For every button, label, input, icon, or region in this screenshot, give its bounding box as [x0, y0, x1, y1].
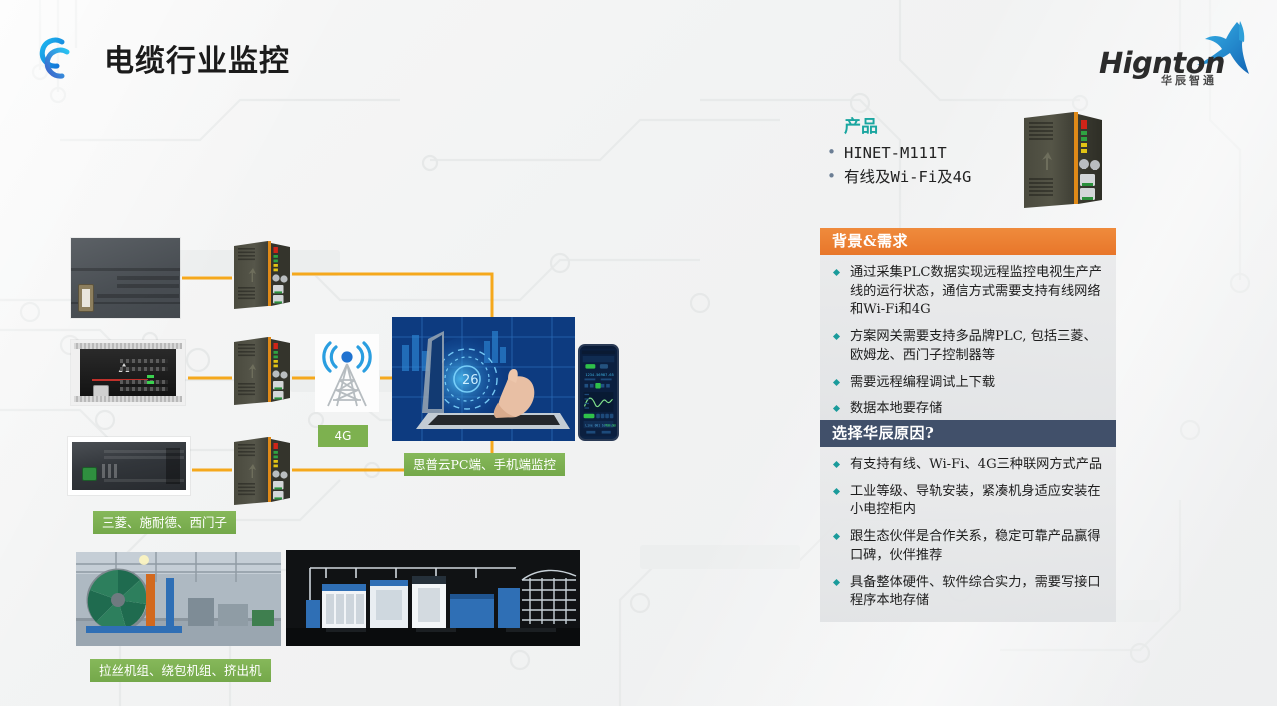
badge-4g: 4G	[318, 425, 368, 447]
list-item: 有支持有线、Wi-Fi、4G三种联网方式产品	[830, 456, 1104, 475]
schneider-plc	[68, 437, 190, 495]
ethernet-port-icon	[82, 467, 97, 481]
cell-tower-image	[315, 334, 379, 412]
hinet-gateway-3	[230, 434, 296, 508]
production-line-photo	[286, 550, 580, 646]
product-block: 产品 HINET-M111T 有线及Wi-Fi及4G	[822, 112, 1022, 189]
list-item: 方案网关需要支持多品牌PLC, 包括三菱、欧姆龙、西门子控制器等	[830, 328, 1104, 365]
brand-subtitle: 华辰智通	[1161, 72, 1217, 88]
brand-logo: Hignton 华辰智通	[1089, 18, 1259, 84]
hinet-gateway-1	[230, 238, 296, 312]
panel-title: 背景&需求	[820, 228, 1116, 255]
cable-factory-photo	[76, 552, 281, 646]
db9-connector-icon	[78, 284, 94, 312]
product-title: 产品	[844, 112, 1022, 137]
svg-text:*88.00: *88.00	[604, 423, 616, 427]
list-item: 工业等级、导轨安装，紧凑机身适应安装在小电控柜内	[830, 483, 1104, 520]
list-item: 通过采集PLC数据实现远程监控电视生产产线的运行状态，通信方式需要支持有线网络和…	[830, 264, 1104, 320]
panel-body: 有支持有线、Wi-Fi、4G三种联网方式产品 工业等级、导轨安装，紧凑机身适应安…	[820, 447, 1116, 622]
list-item: 具备整体硬件、软件综合实力，需要写接口程序本地存储	[830, 574, 1104, 611]
panel-title: 选择华辰原因?	[820, 420, 1116, 447]
tag-cloud-monitoring: 思普云PC端、手机端监控	[404, 453, 565, 476]
siemens-plc	[71, 238, 180, 318]
svg-text:987.65: 987.65	[601, 373, 614, 377]
list-item: HINET-M111T	[822, 142, 1022, 166]
svg-text:1234.56: 1234.56	[585, 373, 600, 377]
mobile-dashboard-image: 1234.56987.65 Line 001 balance	[578, 344, 619, 441]
product-list: HINET-M111T 有线及Wi-Fi及4G	[822, 142, 1022, 189]
laptop-dashboard-image: 26	[392, 317, 575, 441]
cell-tower-icon	[315, 334, 379, 412]
list-item: 有线及Wi-Fi及4G	[822, 166, 1022, 190]
tag-plc-brands: 三菱、施耐德、西门子	[93, 511, 236, 534]
hinet-gateway-2	[230, 334, 296, 408]
panel-background-requirements: 背景&需求 通过采集PLC数据实现远程监控电视生产产线的运行状态，通信方式需要支…	[820, 228, 1116, 430]
panel-body: 通过采集PLC数据实现远程监控电视生产产线的运行状态，通信方式需要支持有线网络和…	[820, 255, 1116, 430]
list-item: 跟生态伙伴是合作关系，稳定可靠产品赢得口碑，伙伴推荐	[830, 528, 1104, 565]
hinet-gateway-device-product	[1016, 108, 1110, 214]
tag-machines: 拉丝机组、绕包机组、挤出机	[90, 659, 271, 682]
list-item: 需要远程编程调试上下载	[830, 374, 1104, 393]
mitsubishi-plc	[71, 340, 185, 405]
svg-text:26: 26	[462, 373, 479, 388]
panel-reason-to-choose: 选择华辰原因? 有支持有线、Wi-Fi、4G三种联网方式产品 工业等级、导轨安装…	[820, 420, 1116, 622]
topology-diagram: 4G	[0, 0, 820, 706]
list-item: 数据本地要存储	[830, 400, 1104, 419]
